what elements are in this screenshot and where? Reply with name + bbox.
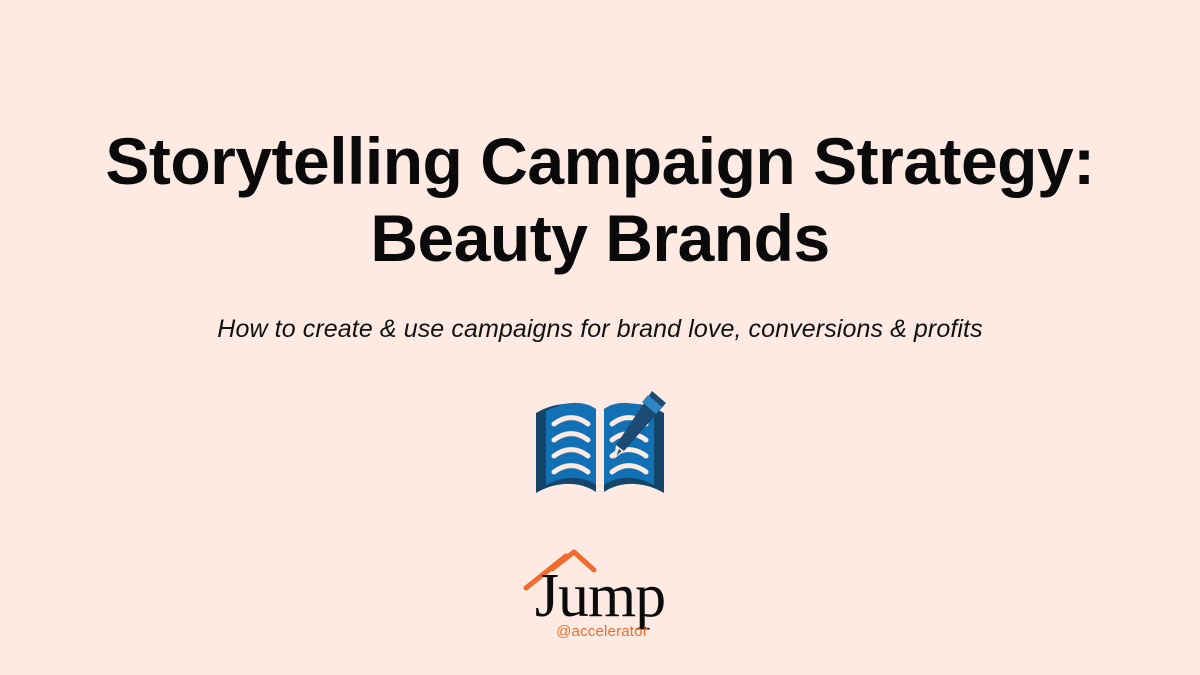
open-book-with-pencil-emoji [525, 388, 675, 506]
page-subtitle: How to create & use campaigns for brand … [70, 313, 1130, 346]
logo-wordmark: Jump [535, 562, 665, 630]
title-slide: Storytelling Campaign Strategy: Beauty B… [0, 0, 1200, 675]
page-title: Storytelling Campaign Strategy: Beauty B… [50, 123, 1150, 277]
logo-tagline: @accelerator [556, 623, 648, 640]
subtitle-block: How to create & use campaigns for brand … [70, 313, 1130, 346]
logo-svg: Jump @accelerator [490, 544, 710, 644]
jump-accelerator-logo: Jump @accelerator [490, 544, 710, 644]
title-block: Storytelling Campaign Strategy: Beauty B… [50, 123, 1150, 277]
book-pencil-icon [526, 389, 674, 505]
